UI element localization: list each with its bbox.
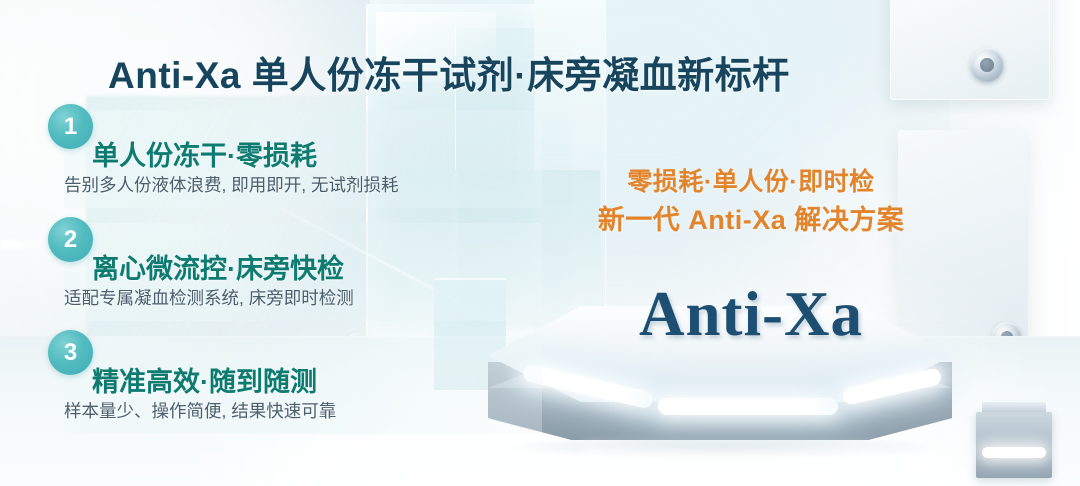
promo-block: 零损耗·单人份·即时检 新一代 Anti-Xa 解决方案 [536, 165, 966, 239]
promo-line-1: 零损耗·单人份·即时检 [536, 165, 966, 201]
list-item: 3 精准高效·随到随测 样本量少、操作简便, 结果快速可靠 [42, 330, 542, 443]
feature-title: 离心微流控·床旁快检 [92, 247, 344, 286]
product-banner: Anti-Xa 单人份冻干试剂·床旁凝血新标杆 1 单人份冻干·零损耗 告别多人… [0, 0, 1080, 486]
feature-number-badge: 1 [48, 104, 93, 149]
feature-title: 单人份冻干·零损耗 [92, 134, 317, 173]
feature-title: 精准高效·随到随测 [92, 360, 317, 399]
banner-content: Anti-Xa 单人份冻干试剂·床旁凝血新标杆 1 单人份冻干·零损耗 告别多人… [0, 0, 1080, 486]
feature-description: 样本量少、操作简便, 结果快速可靠 [64, 398, 336, 423]
list-item: 2 离心微流控·床旁快检 适配专属凝血检测系统, 床旁即时检测 [42, 217, 542, 330]
feature-number-badge: 2 [48, 217, 93, 262]
list-item: 1 单人份冻干·零损耗 告别多人份液体浪费, 即用即开, 无试剂损耗 [42, 104, 542, 217]
feature-description: 告别多人份液体浪费, 即用即开, 无试剂损耗 [64, 172, 398, 197]
page-title: Anti-Xa 单人份冻干试剂·床旁凝血新标杆 [108, 45, 790, 99]
feature-number-badge: 3 [48, 330, 93, 375]
promo-line-2: 新一代 Anti-Xa 解决方案 [536, 201, 966, 239]
feature-list: 1 单人份冻干·零损耗 告别多人份液体浪费, 即用即开, 无试剂损耗 2 离心微… [42, 104, 542, 443]
product-wordmark: Anti-Xa [536, 278, 966, 351]
feature-description: 适配专属凝血检测系统, 床旁即时检测 [64, 285, 354, 310]
